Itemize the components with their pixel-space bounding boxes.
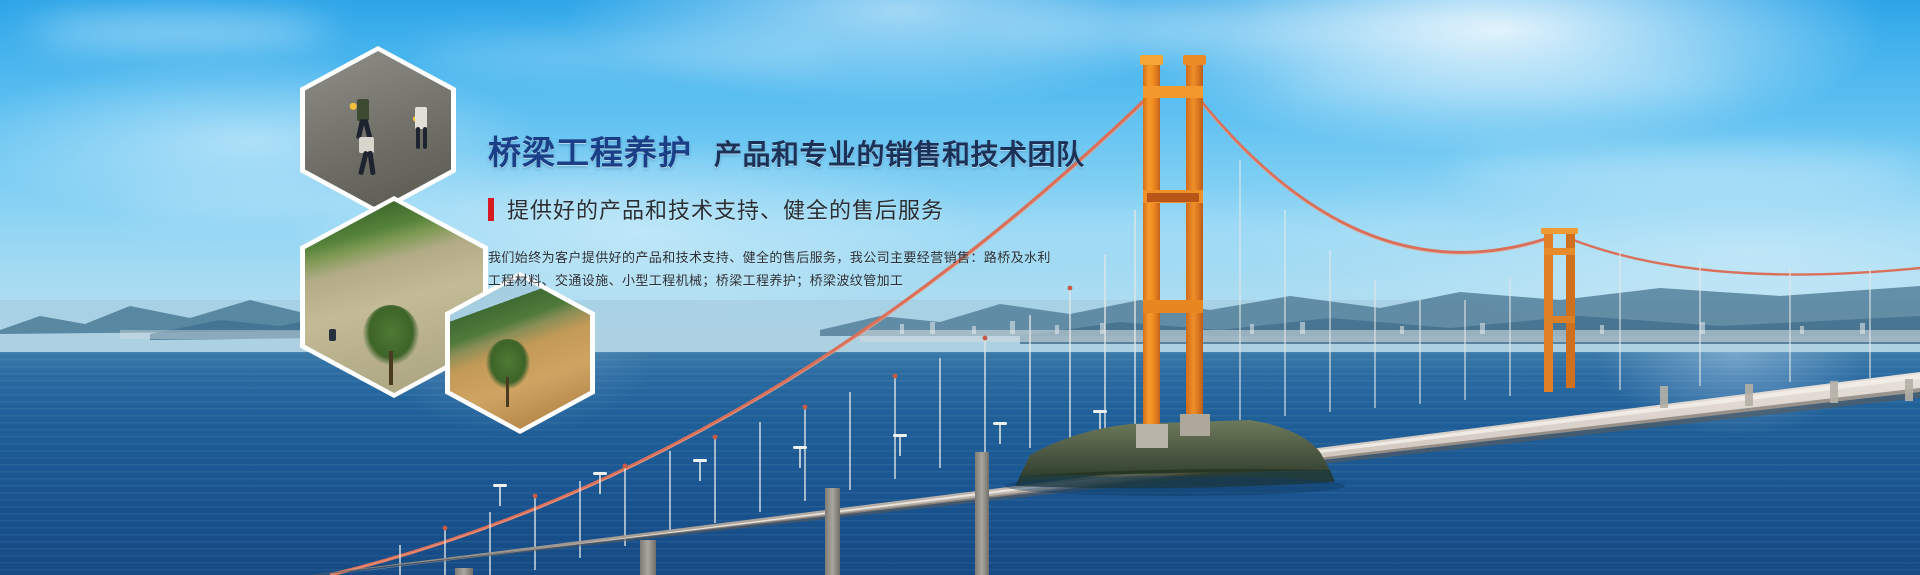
subheading-text: 提供好的产品和技术支持、健全的售后服务 [507, 193, 944, 225]
description-paragraph: 我们始终为客户提供好的产品和技术支持、健全的售后服务，我公司主要经营销售：路桥及… [488, 247, 1248, 293]
headline-main: 桥梁工程养护 [488, 126, 692, 174]
gallery-hex-1[interactable] [300, 46, 456, 214]
banner-copy: 桥梁工程养护 产品和专业的销售和技术团队 提供好的产品和技术支持、健全的售后服务… [488, 126, 1248, 293]
gallery-hex-3[interactable] [445, 272, 595, 434]
headline-sub: 产品和专业的销售和技术团队 [714, 133, 1085, 173]
hero-banner: 桥梁工程养护 产品和专业的销售和技术团队 提供好的产品和技术支持、健全的售后服务… [0, 0, 1920, 575]
subheading-row: 提供好的产品和技术支持、健全的售后服务 [488, 193, 1248, 225]
description-line-2: 工程材料、交通设施、小型工程机械；桥梁工程养护；桥梁波纹管加工 [488, 270, 1248, 293]
headline-row: 桥梁工程养护 产品和专业的销售和技术团队 [488, 126, 1248, 174]
accent-bar [488, 198, 494, 221]
description-line-1: 我们始终为客户提供好的产品和技术支持、健全的售后服务，我公司主要经营销售：路桥及… [488, 247, 1248, 270]
